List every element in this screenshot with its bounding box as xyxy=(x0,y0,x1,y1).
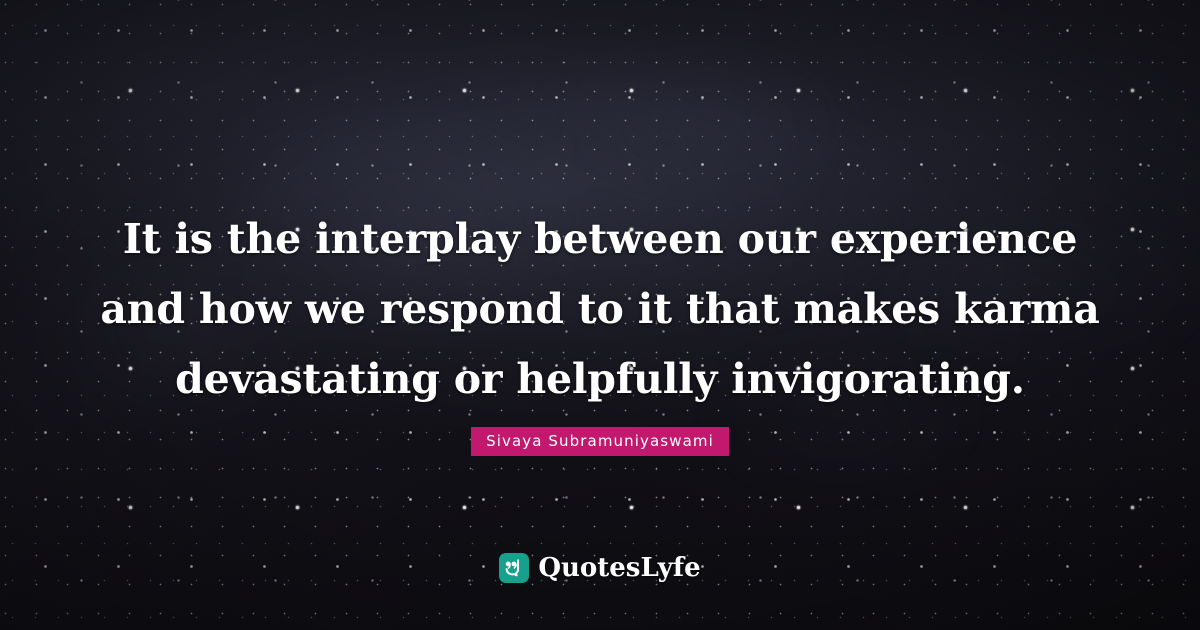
brand-logo[interactable]: QuotesLyfe xyxy=(0,553,1200,583)
brand-name-text: QuotesLyfe xyxy=(538,553,700,583)
quote-line-3: devastating or helpfully invigorating. xyxy=(80,344,1120,414)
quote-card: It is the interplay between our experien… xyxy=(0,0,1200,630)
quote-bubble-icon xyxy=(499,553,529,583)
author-attribution: Sivaya Subramuniyaswami xyxy=(0,427,1200,456)
quote-line-1: It is the interplay between our experien… xyxy=(80,204,1120,274)
quote-text: It is the interplay between our experien… xyxy=(0,204,1200,414)
author-name-badge[interactable]: Sivaya Subramuniyaswami xyxy=(471,427,729,456)
card-content: It is the interplay between our experien… xyxy=(0,0,1200,630)
quote-line-2: and how we respond to it that makes karm… xyxy=(80,274,1120,344)
